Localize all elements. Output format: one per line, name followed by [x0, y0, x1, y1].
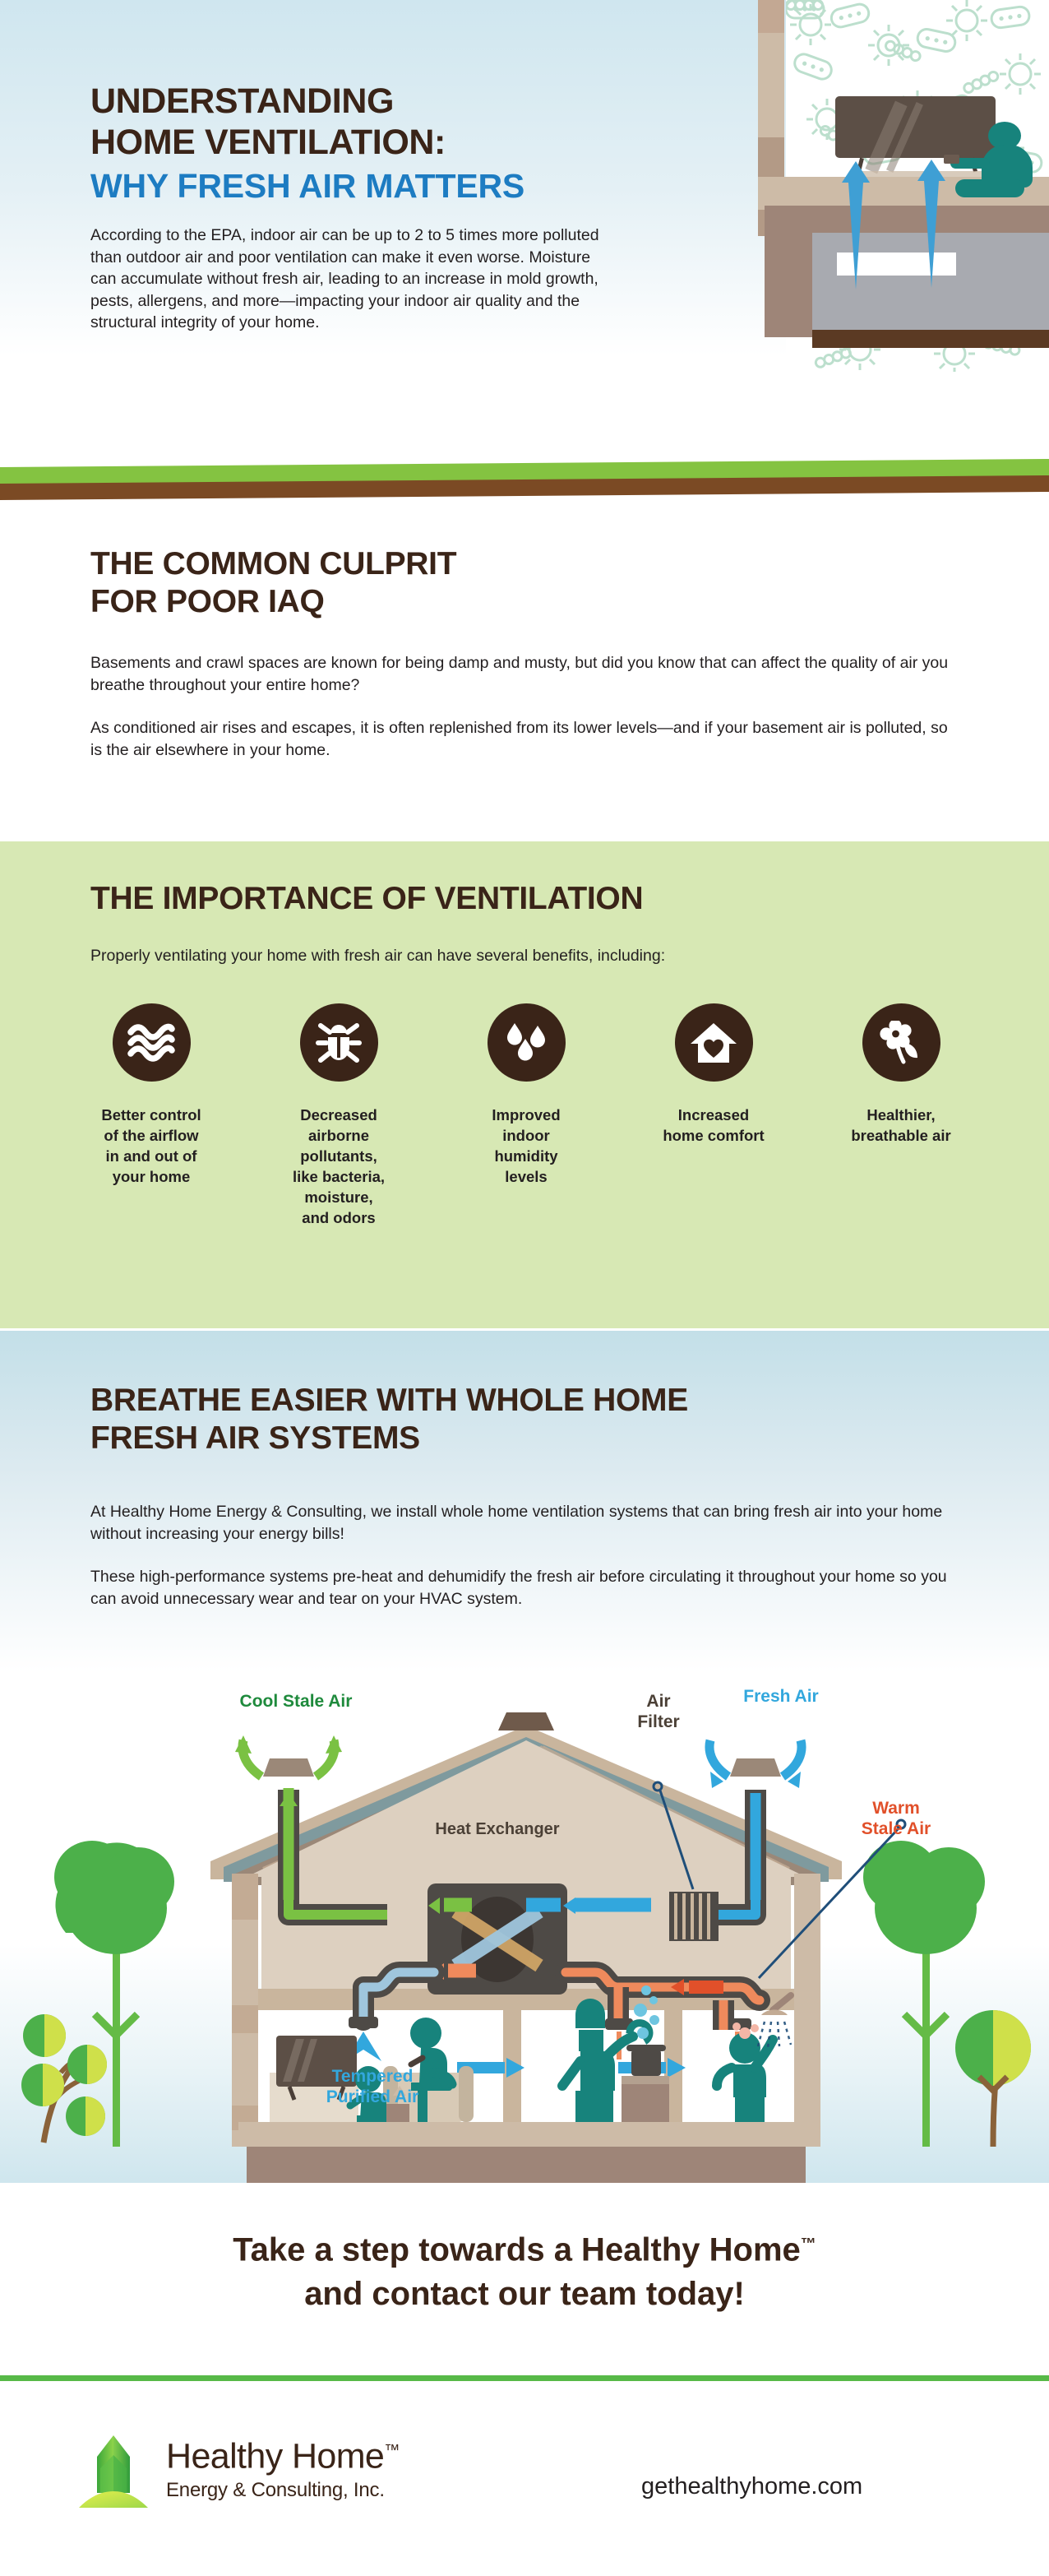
basement-footer-band	[812, 330, 1049, 348]
house-logo-icon	[76, 2432, 151, 2514]
systems-paragraph-1: At Healthy Home Energy & Consulting, we …	[90, 1501, 962, 1545]
brand-trademark: ™	[384, 2442, 399, 2459]
systems-paragraph-2: These high-performance systems pre-heat …	[90, 1566, 962, 1610]
culprit-title-line2: FOR POOR IAQ	[90, 583, 682, 621]
hero-text-block: UNDERSTANDING HOME VENTILATION: WHY FRES…	[90, 81, 617, 334]
hero-paragraph: According to the EPA, indoor air can be …	[90, 225, 600, 334]
cta-headline: Take a step towards a Healthy Home™ and …	[0, 2222, 1049, 2316]
culprit-body: Basements and crawl spaces are known for…	[90, 652, 962, 762]
flower-glyph	[879, 1021, 923, 1065]
importance-section: THE IMPORTANCE OF VENTILATION Properly v…	[0, 841, 1049, 1328]
house-diagram-svg	[0, 1661, 1049, 2188]
label-tempered-purified-air: Tempered Purified Air	[286, 2066, 459, 2107]
brand-tagline: Energy & Consulting, Inc.	[166, 2478, 400, 2503]
benefits-row: Better control of the airflow in and out…	[58, 1003, 995, 1228]
cta-trademark: ™	[801, 2235, 816, 2253]
footer-section: Healthy Home™ Energy & Consulting, Inc. …	[0, 2381, 1049, 2576]
hero-section: UNDERSTANDING HOME VENTILATION: WHY FRES…	[0, 0, 1049, 493]
tree-right-large	[863, 1841, 985, 2147]
infographic-page: UNDERSTANDING HOME VENTILATION: WHY FRES…	[0, 0, 1049, 2576]
grass-soil-divider	[0, 467, 1049, 500]
bug-glyph	[316, 1021, 362, 1065]
systems-title-line2: FRESH AIR SYSTEMS	[90, 1420, 880, 1457]
flower-icon	[862, 1003, 940, 1082]
house-heart-icon	[675, 1003, 753, 1082]
cta-line-2: and contact our team today!	[304, 2276, 745, 2312]
label-fresh-air: Fresh Air	[707, 1686, 855, 1707]
importance-subtitle: Properly ventilating your home with fres…	[90, 947, 665, 966]
benefit-item: Healthier, breathable air	[807, 1003, 995, 1228]
label-cool-stale-air: Cool Stale Air	[206, 1691, 386, 1712]
bug-icon	[300, 1003, 378, 1082]
label-heat-exchanger: Heat Exchanger	[395, 1819, 600, 1840]
water-drops-icon	[488, 1003, 566, 1082]
tv-remote	[944, 155, 959, 164]
cta-section: Take a step towards a Healthy Home™ and …	[0, 2183, 1049, 2369]
ventilation-house-diagram: Cool Stale Air Air Filter Fresh Air Warm…	[0, 1661, 1049, 2188]
benefit-label: Improved indoor humidity levels	[492, 1105, 560, 1187]
benefit-label: Better control of the airflow in and out…	[101, 1105, 201, 1187]
benefit-item: Increased home comfort	[620, 1003, 807, 1228]
label-air-filter: Air Filter	[605, 1691, 712, 1732]
benefit-label: Increased home comfort	[663, 1105, 764, 1146]
label-warm-stale-air: Warm Stale Air	[830, 1798, 962, 1839]
footer-rule	[0, 2375, 1049, 2381]
hero-title-accent: WHY FRESH AIR MATTERS	[90, 165, 617, 206]
brand-name: Healthy Home™	[166, 2432, 400, 2475]
water-drops-glyph	[503, 1021, 549, 1065]
common-culprit-section: THE COMMON CULPRIT FOR POOR IAQ Basement…	[0, 500, 1049, 841]
benefit-label: Healthier, breathable air	[851, 1105, 950, 1146]
systems-heading: BREATHE EASIER WITH WHOLE HOME FRESH AIR…	[90, 1382, 880, 1457]
culprit-title-line1: THE COMMON CULPRIT	[90, 545, 682, 583]
tree-left-large	[54, 1841, 174, 2147]
culprit-paragraph-1: Basements and crawl spaces are known for…	[90, 652, 962, 697]
benefit-item: Better control of the airflow in and out…	[58, 1003, 245, 1228]
brand-text: Healthy Home™ Energy & Consulting, Inc.	[166, 2432, 400, 2503]
tree-left-small	[21, 2014, 107, 2143]
benefit-label: Decreased airborne pollutants, like bact…	[293, 1105, 385, 1228]
culprit-heading: THE COMMON CULPRIT FOR POOR IAQ	[90, 545, 682, 621]
hero-title-line2: HOME VENTILATION:	[90, 122, 617, 163]
cta-line-1: Take a step towards a Healthy Home	[233, 2231, 801, 2268]
airflow-waves-icon	[113, 1003, 191, 1082]
importance-title: THE IMPORTANCE OF VENTILATION	[90, 880, 643, 918]
benefit-item: Decreased airborne pollutants, like bact…	[245, 1003, 432, 1228]
website-url[interactable]: gethealthyhome.com	[641, 2473, 862, 2500]
systems-body: At Healthy Home Energy & Consulting, we …	[90, 1501, 962, 1610]
benefit-item: Improved indoor humidity levels	[432, 1003, 620, 1228]
systems-title-line1: BREATHE EASIER WITH WHOLE HOME	[90, 1382, 880, 1420]
wall-trim-mid	[758, 33, 784, 137]
culprit-paragraph-2: As conditioned air rises and escapes, it…	[90, 717, 962, 762]
house-heart-glyph	[690, 1022, 737, 1064]
tree-right-small	[955, 2010, 1031, 2147]
brand-logo[interactable]: Healthy Home™ Energy & Consulting, Inc.	[76, 2432, 400, 2514]
wall-trim-top	[758, 0, 784, 33]
airflow-waves-glyph	[127, 1022, 175, 1063]
flat-screen-tv	[835, 96, 996, 158]
hero-title-line1: UNDERSTANDING	[90, 81, 617, 122]
house-logo-glyph	[76, 2432, 151, 2514]
